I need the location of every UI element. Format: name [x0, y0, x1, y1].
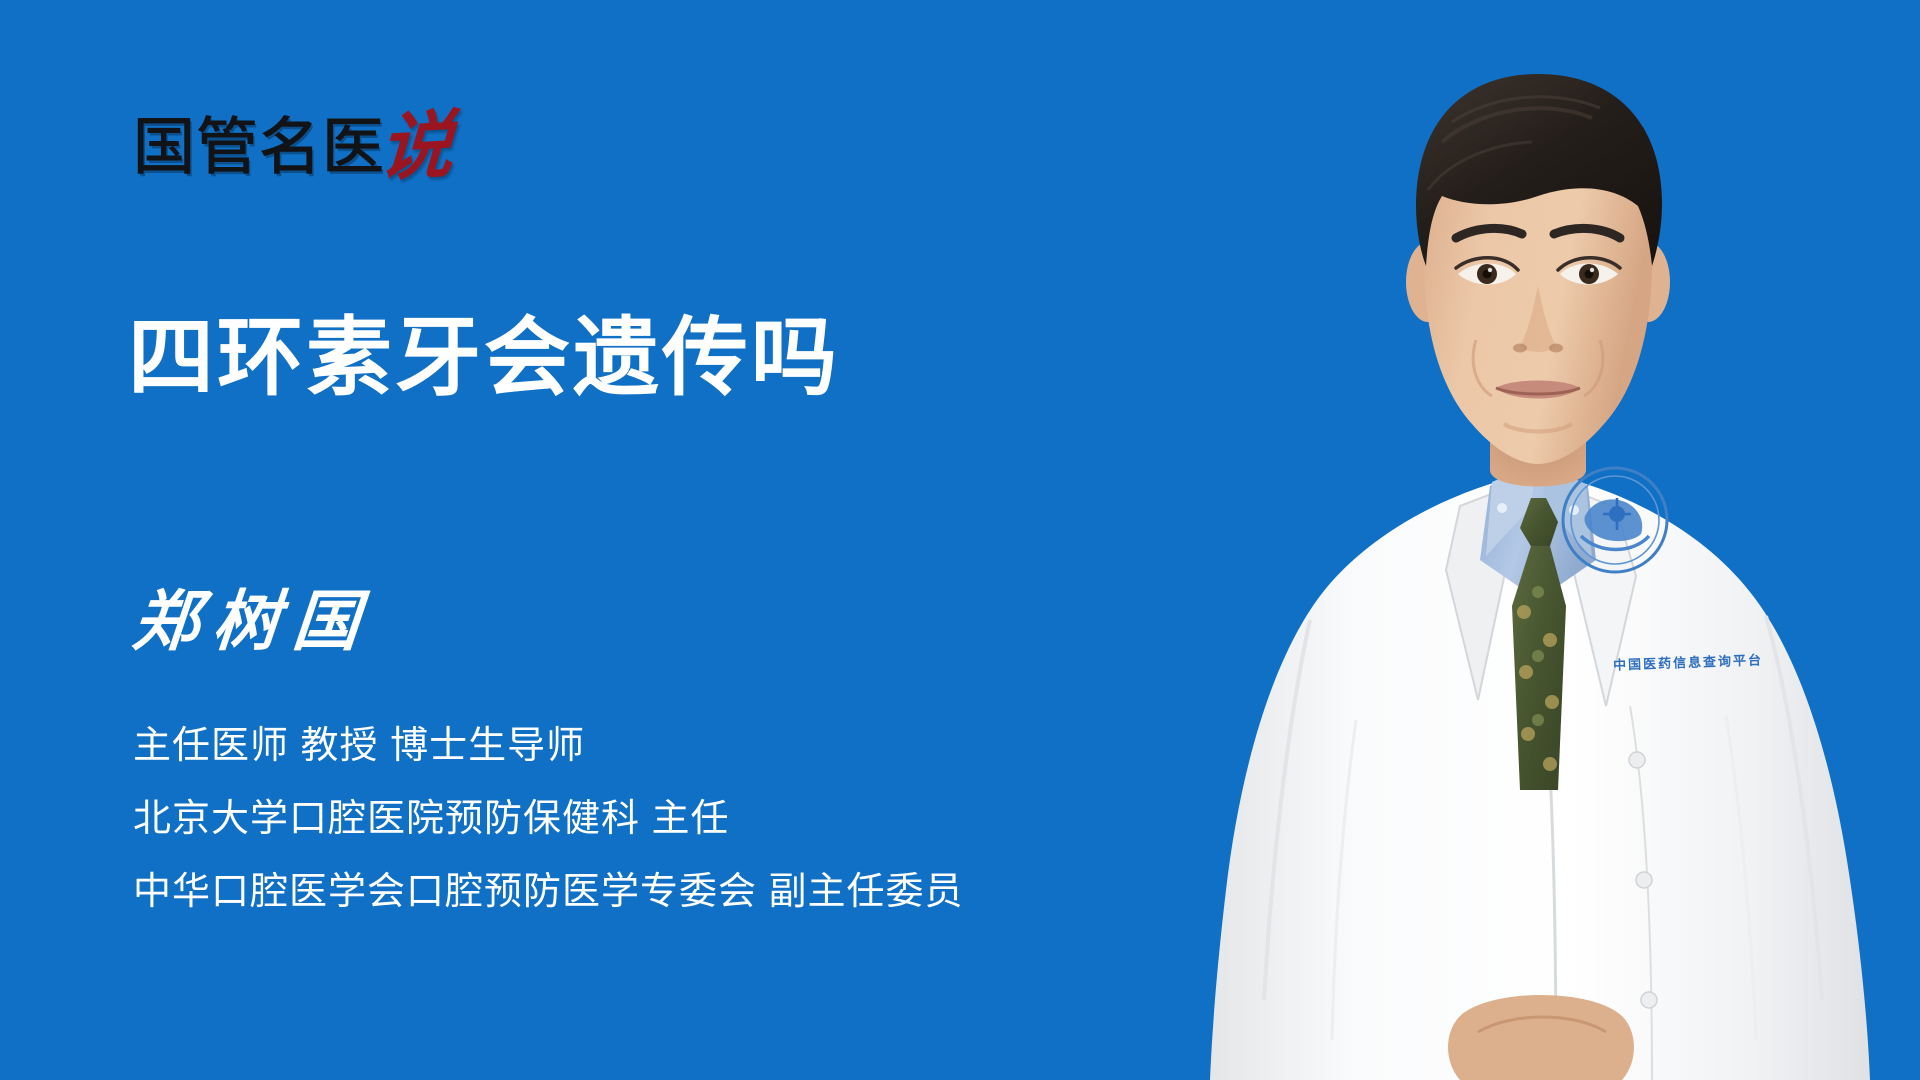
coat-button	[1641, 992, 1657, 1008]
brand-logo-main-text: 国管名医	[133, 117, 385, 179]
coat-button	[1629, 752, 1645, 768]
credential-line: 中华口腔医学会口腔预防医学专委会 副主任委员	[133, 868, 964, 916]
coat-button	[1636, 872, 1652, 888]
doctor-portrait-illustration	[1160, 0, 1920, 1080]
page-title: 四环素牙会遗传吗	[128, 306, 840, 410]
credential-line: 主任医师 教授 博士生导师	[133, 722, 964, 770]
doctor-portrait	[1160, 0, 1920, 1080]
brand-logo-accent-text: 说	[377, 115, 455, 181]
doctor-name: 郑树国	[129, 580, 377, 666]
video-cover-stage: 国管名医 说 四环素牙会遗传吗 郑树国 主任医师 教授 博士生导师 北京大学口腔…	[0, 0, 1920, 1080]
credential-line: 北京大学口腔医院预防保健科 主任	[133, 795, 964, 843]
doctor-credentials: 主任医师 教授 博士生导师 北京大学口腔医院预防保健科 主任 中华口腔医学会口腔…	[133, 722, 964, 916]
hands	[1448, 995, 1634, 1080]
brand-logo: 国管名医 说	[133, 103, 453, 179]
